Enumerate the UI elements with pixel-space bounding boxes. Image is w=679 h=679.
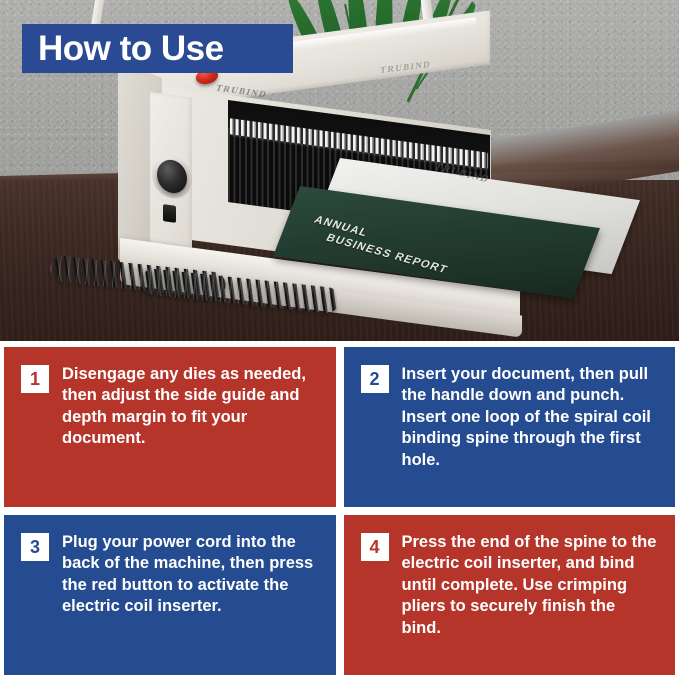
step-text-1: Disengage any dies as needed, then adjus… xyxy=(62,364,320,450)
step-card-1: 1 Disengage any dies as needed, then adj… xyxy=(4,347,336,507)
step-number-badge-2: 2 xyxy=(361,365,389,393)
die-disengage-lever[interactable] xyxy=(163,204,176,223)
steps-grid: 1 Disengage any dies as needed, then adj… xyxy=(0,347,679,679)
step-number-badge-1: 1 xyxy=(21,365,49,393)
step-card-3: 3 Plug your power cord into the back of … xyxy=(4,515,336,675)
how-to-use-banner: How to Use xyxy=(22,24,293,73)
step-number-badge-3: 3 xyxy=(21,533,49,561)
step-card-2: 2 Insert your document, then pull the ha… xyxy=(344,347,676,507)
how-to-use-infographic: TRUBIND TRUBIND TRUBIND ANNUAL BUSINESS … xyxy=(0,0,679,679)
step-text-2: Insert your document, then pull the hand… xyxy=(402,364,660,471)
step-card-4: 4 Press the end of the spine to the elec… xyxy=(344,515,676,675)
step-text-3: Plug your power cord into the back of th… xyxy=(62,532,320,618)
step-number-badge-4: 4 xyxy=(361,533,389,561)
product-photo: TRUBIND TRUBIND TRUBIND ANNUAL BUSINESS … xyxy=(0,0,679,341)
step-text-4: Press the end of the spine to the electr… xyxy=(402,532,660,639)
page-title: How to Use xyxy=(38,31,224,66)
